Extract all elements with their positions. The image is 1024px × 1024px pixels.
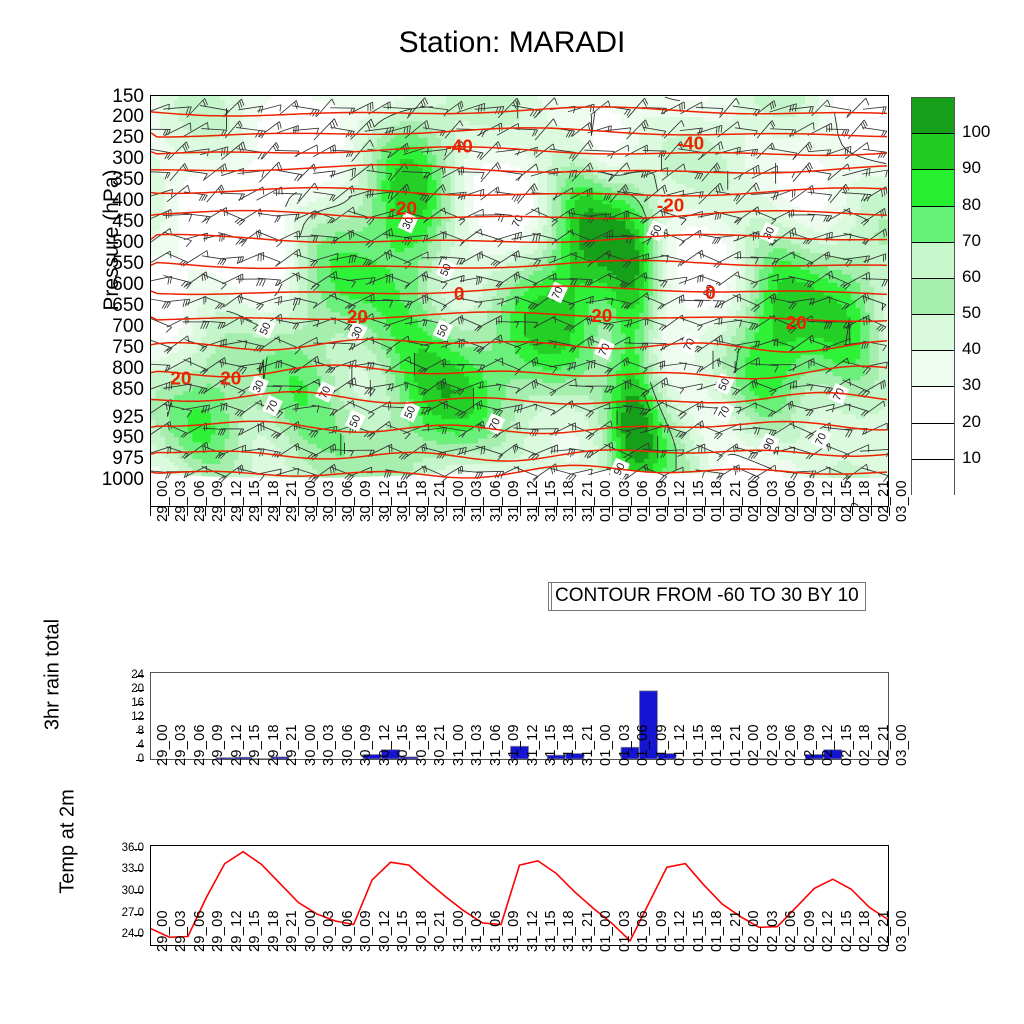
colorbar-segment-2 bbox=[912, 170, 954, 206]
rain-ytick-mark bbox=[136, 676, 144, 677]
time-label-30_18: 30_18 bbox=[414, 480, 430, 522]
ytick-800: 800 bbox=[60, 358, 144, 380]
time-label-29_15: 29_15 bbox=[247, 910, 263, 952]
time-label-01_09: 01_09 bbox=[654, 480, 670, 522]
rain-ytick-mark bbox=[136, 690, 144, 691]
time-label-31_06: 31_06 bbox=[488, 480, 504, 522]
time-label-31_18: 31_18 bbox=[561, 480, 577, 522]
colorbar-label-100: 100 bbox=[962, 122, 990, 142]
contour-line-layer: 3070705050503050507030507070709070707090… bbox=[151, 96, 888, 506]
ytick-925: 925 bbox=[60, 407, 144, 429]
time-label-30_09: 30_09 bbox=[358, 480, 374, 522]
rain-panel-ylabel: 3hr rain total bbox=[42, 595, 65, 755]
time-label-01_21: 01_21 bbox=[728, 910, 744, 952]
time-label-01_21: 01_21 bbox=[728, 724, 744, 766]
time-label-29_06: 29_06 bbox=[192, 910, 208, 952]
temp-ytick-mark bbox=[134, 892, 143, 893]
time-label-30_12: 30_12 bbox=[377, 910, 393, 952]
time-label-02_12: 02_12 bbox=[820, 910, 836, 952]
time-label-01_09: 01_09 bbox=[654, 724, 670, 766]
time-label-29_15: 29_15 bbox=[247, 724, 263, 766]
time-label-01_18: 01_18 bbox=[709, 480, 725, 522]
colorbar-segment-4 bbox=[912, 243, 954, 279]
time-label-03_00: 03_00 bbox=[894, 480, 910, 522]
temp-panel-ylabel: Temp at 2m bbox=[57, 757, 80, 927]
ytick-250: 250 bbox=[60, 127, 144, 149]
time-label-29_00: 29_00 bbox=[155, 724, 171, 766]
time-label-02_06: 02_06 bbox=[783, 724, 799, 766]
time-label-29_03: 29_03 bbox=[173, 910, 189, 952]
time-label-02_06: 02_06 bbox=[783, 480, 799, 522]
time-label-31_12: 31_12 bbox=[525, 724, 541, 766]
colorbar-label-90: 90 bbox=[962, 158, 981, 178]
time-label-29_18: 29_18 bbox=[266, 480, 282, 522]
colorbar-segment-10 bbox=[912, 460, 954, 496]
rain-ytick-12: 12 bbox=[110, 711, 144, 723]
time-label-29_12: 29_12 bbox=[229, 724, 245, 766]
time-label-01_06: 01_06 bbox=[635, 910, 651, 952]
time-label-29_18: 29_18 bbox=[266, 724, 282, 766]
time-label-02_09: 02_09 bbox=[802, 724, 818, 766]
time-label-30_12: 30_12 bbox=[377, 480, 393, 522]
time-label-02_18: 02_18 bbox=[857, 910, 873, 952]
rain-ytick-mark bbox=[136, 718, 144, 719]
time-label-30_09: 30_09 bbox=[358, 910, 374, 952]
rain-ytick-16: 16 bbox=[110, 697, 144, 709]
time-label-01_03: 01_03 bbox=[617, 724, 633, 766]
time-label-30_21: 30_21 bbox=[432, 910, 448, 952]
colorbar-label-20: 20 bbox=[962, 412, 981, 432]
time-label-02_09: 02_09 bbox=[802, 910, 818, 952]
temp-ytick-mark bbox=[134, 914, 143, 915]
time-label-02_03: 02_03 bbox=[765, 480, 781, 522]
time-label-29_06: 29_06 bbox=[192, 480, 208, 522]
ytick-200: 200 bbox=[60, 106, 144, 128]
humidity-colorbar bbox=[911, 97, 955, 495]
colorbar-segment-8 bbox=[912, 387, 954, 423]
time-label-30_00: 30_00 bbox=[303, 480, 319, 522]
time-label-29_15: 29_15 bbox=[247, 480, 263, 522]
time-label-02_21: 02_21 bbox=[876, 480, 892, 522]
xtick-29_00 bbox=[150, 507, 151, 516]
time-label-30_21: 30_21 bbox=[432, 480, 448, 522]
time-label-02_00: 02_00 bbox=[746, 724, 762, 766]
time-label-30_03: 30_03 bbox=[321, 910, 337, 952]
colorbar-label-70: 70 bbox=[962, 231, 981, 251]
ytick-700: 700 bbox=[60, 316, 144, 338]
time-label-29_21: 29_21 bbox=[284, 480, 300, 522]
time-label-31_06: 31_06 bbox=[488, 910, 504, 952]
temp-panel-ytick-labels: 24.027.030.033.036.0 bbox=[92, 838, 144, 953]
time-label-30_12: 30_12 bbox=[377, 724, 393, 766]
time-label-31_15: 31_15 bbox=[543, 910, 559, 952]
time-label-30_03: 30_03 bbox=[321, 724, 337, 766]
time-label-02_03: 02_03 bbox=[765, 910, 781, 952]
time-label-03_00: 03_00 bbox=[894, 724, 910, 766]
colorbar-segment-9 bbox=[912, 424, 954, 460]
time-label-29_09: 29_09 bbox=[210, 910, 226, 952]
time-label-31_18: 31_18 bbox=[561, 724, 577, 766]
rain-ytick-20: 20 bbox=[110, 683, 144, 695]
time-label-01_03: 01_03 bbox=[617, 480, 633, 522]
time-label-31_12: 31_12 bbox=[525, 910, 541, 952]
rain-ytick-mark bbox=[136, 760, 144, 761]
time-label-01_12: 01_12 bbox=[672, 480, 688, 522]
time-label-29_12: 29_12 bbox=[229, 910, 245, 952]
ytick-1000: 1000 bbox=[60, 469, 144, 491]
colorbar-label-60: 60 bbox=[962, 267, 981, 287]
weather-sounding-figure: Station: MARADI Pressure (hPa) 150200250… bbox=[0, 0, 1024, 1024]
ytick-300: 300 bbox=[60, 148, 144, 170]
time-label-29_09: 29_09 bbox=[210, 724, 226, 766]
rain-ytick-mark bbox=[136, 704, 144, 705]
temp-ytick-30.0: 30.0 bbox=[104, 885, 144, 897]
time-label-01_18: 01_18 bbox=[709, 910, 725, 952]
time-label-31_00: 31_00 bbox=[451, 724, 467, 766]
time-label-02_12: 02_12 bbox=[820, 480, 836, 522]
time-label-30_06: 30_06 bbox=[340, 724, 356, 766]
ytick-450: 450 bbox=[60, 211, 144, 233]
time-label-01_12: 01_12 bbox=[672, 724, 688, 766]
ytick-950: 950 bbox=[60, 427, 144, 449]
time-label-01_00: 01_00 bbox=[598, 910, 614, 952]
time-label-30_18: 30_18 bbox=[414, 910, 430, 952]
time-label-30_06: 30_06 bbox=[340, 480, 356, 522]
main-panel-time-labels: 29_0029_0329_0629_0929_1229_1529_1829_21… bbox=[150, 520, 889, 580]
colorbar-segment-7 bbox=[912, 351, 954, 387]
time-label-31_03: 31_03 bbox=[469, 480, 485, 522]
time-label-01_15: 01_15 bbox=[691, 480, 707, 522]
time-label-31_21: 31_21 bbox=[580, 724, 596, 766]
colorbar-tick-labels: 100908070605040302010 bbox=[962, 97, 1022, 495]
temp-ytick-36.0: 36.0 bbox=[104, 842, 144, 854]
main-panel-ytick-labels: 1502002503003504004505005506006507007508… bbox=[60, 95, 144, 507]
time-label-31_09: 31_09 bbox=[506, 480, 522, 522]
contour-note-box: CONTOUR FROM -60 TO 30 BY 10 bbox=[548, 582, 866, 611]
time-label-31_21: 31_21 bbox=[580, 480, 596, 522]
time-label-02_03: 02_03 bbox=[765, 724, 781, 766]
time-label-02_15: 02_15 bbox=[839, 724, 855, 766]
colorbar-segment-0 bbox=[912, 98, 954, 134]
temp-ytick-mark bbox=[134, 935, 143, 936]
time-label-02_15: 02_15 bbox=[839, 910, 855, 952]
ytick-400: 400 bbox=[60, 190, 144, 212]
time-label-29_06: 29_06 bbox=[192, 724, 208, 766]
time-label-02_12: 02_12 bbox=[820, 724, 836, 766]
time-label-29_12: 29_12 bbox=[229, 480, 245, 522]
time-label-29_00: 29_00 bbox=[155, 480, 171, 522]
colorbar-segment-3 bbox=[912, 207, 954, 243]
temp-ytick-mark bbox=[134, 849, 143, 850]
time-label-30_00: 30_00 bbox=[303, 910, 319, 952]
time-label-01_00: 01_00 bbox=[598, 480, 614, 522]
page-title: Station: MARADI bbox=[0, 26, 1024, 60]
time-label-01_15: 01_15 bbox=[691, 910, 707, 952]
time-label-29_21: 29_21 bbox=[284, 724, 300, 766]
time-label-01_12: 01_12 bbox=[672, 910, 688, 952]
time-label-02_18: 02_18 bbox=[857, 480, 873, 522]
time-label-01_09: 01_09 bbox=[654, 910, 670, 952]
time-label-02_18: 02_18 bbox=[857, 724, 873, 766]
time-label-31_03: 31_03 bbox=[469, 724, 485, 766]
time-label-01_15: 01_15 bbox=[691, 724, 707, 766]
temp-panel-time-labels: 29_0029_0329_0629_0929_1229_1529_1829_21… bbox=[150, 950, 889, 1010]
time-label-01_06: 01_06 bbox=[635, 480, 651, 522]
colorbar-segment-6 bbox=[912, 315, 954, 351]
time-label-02_09: 02_09 bbox=[802, 480, 818, 522]
rain-ytick-0: 0 bbox=[110, 753, 144, 765]
time-label-30_06: 30_06 bbox=[340, 910, 356, 952]
ytick-550: 550 bbox=[60, 253, 144, 275]
time-label-31_09: 31_09 bbox=[506, 910, 522, 952]
temp-ytick-33.0: 33.0 bbox=[104, 863, 144, 875]
ytick-850: 850 bbox=[60, 379, 144, 401]
colorbar-label-30: 30 bbox=[962, 375, 981, 395]
rain-ytick-4: 4 bbox=[110, 739, 144, 751]
colorbar-segment-1 bbox=[912, 134, 954, 170]
time-label-01_21: 01_21 bbox=[728, 480, 744, 522]
temp-ytick-mark bbox=[134, 870, 143, 871]
ytick-150: 150 bbox=[60, 86, 144, 108]
time-label-02_00: 02_00 bbox=[746, 910, 762, 952]
time-label-30_21: 30_21 bbox=[432, 724, 448, 766]
rain-panel-ytick-labels: 04812162024 bbox=[100, 665, 144, 765]
time-label-29_03: 29_03 bbox=[173, 480, 189, 522]
rain-ytick-mark bbox=[136, 746, 144, 747]
ytick-750: 750 bbox=[60, 337, 144, 359]
time-label-02_21: 02_21 bbox=[876, 910, 892, 952]
time-label-31_15: 31_15 bbox=[543, 724, 559, 766]
rain-ytick-8: 8 bbox=[110, 725, 144, 737]
time-label-30_15: 30_15 bbox=[395, 480, 411, 522]
time-label-29_09: 29_09 bbox=[210, 480, 226, 522]
time-label-31_21: 31_21 bbox=[580, 910, 596, 952]
ytick-975: 975 bbox=[60, 448, 144, 470]
time-label-02_00: 02_00 bbox=[746, 480, 762, 522]
time-label-31_00: 31_00 bbox=[451, 910, 467, 952]
time-label-31_09: 31_09 bbox=[506, 724, 522, 766]
time-label-02_06: 02_06 bbox=[783, 910, 799, 952]
ytick-600: 600 bbox=[60, 274, 144, 296]
time-label-29_03: 29_03 bbox=[173, 724, 189, 766]
time-label-01_00: 01_00 bbox=[598, 724, 614, 766]
ytick-350: 350 bbox=[60, 169, 144, 191]
time-label-29_00: 29_00 bbox=[155, 910, 171, 952]
time-label-30_18: 30_18 bbox=[414, 724, 430, 766]
colorbar-label-40: 40 bbox=[962, 339, 981, 359]
time-label-30_15: 30_15 bbox=[395, 724, 411, 766]
time-label-02_21: 02_21 bbox=[876, 724, 892, 766]
time-label-03_00: 03_00 bbox=[894, 910, 910, 952]
time-label-31_00: 31_00 bbox=[451, 480, 467, 522]
time-label-31_06: 31_06 bbox=[488, 724, 504, 766]
rain-ytick-mark bbox=[136, 732, 144, 733]
time-label-30_15: 30_15 bbox=[395, 910, 411, 952]
time-label-02_15: 02_15 bbox=[839, 480, 855, 522]
colorbar-segment-5 bbox=[912, 279, 954, 315]
rain-ytick-24: 24 bbox=[110, 669, 144, 681]
time-label-01_03: 01_03 bbox=[617, 910, 633, 952]
time-label-30_03: 30_03 bbox=[321, 480, 337, 522]
time-label-29_18: 29_18 bbox=[266, 910, 282, 952]
time-label-31_18: 31_18 bbox=[561, 910, 577, 952]
time-label-30_09: 30_09 bbox=[358, 724, 374, 766]
ytick-500: 500 bbox=[60, 232, 144, 254]
time-label-31_12: 31_12 bbox=[525, 480, 541, 522]
time-label-01_06: 01_06 bbox=[635, 724, 651, 766]
rain-panel-time-labels: 29_0029_0329_0629_0929_1229_1529_1829_21… bbox=[150, 764, 889, 824]
colorbar-label-50: 50 bbox=[962, 303, 981, 323]
time-label-31_03: 31_03 bbox=[469, 910, 485, 952]
time-label-30_00: 30_00 bbox=[303, 724, 319, 766]
colorbar-label-10: 10 bbox=[962, 448, 981, 468]
humidity-cross-section-plot: 3070705050503050507030507070709070707090… bbox=[150, 95, 889, 507]
colorbar-label-80: 80 bbox=[962, 195, 981, 215]
time-label-29_21: 29_21 bbox=[284, 910, 300, 952]
temp-ytick-24.0: 24.0 bbox=[104, 928, 144, 940]
time-label-01_18: 01_18 bbox=[709, 724, 725, 766]
ytick-650: 650 bbox=[60, 295, 144, 317]
temp-ytick-27.0: 27.0 bbox=[104, 907, 144, 919]
time-label-31_15: 31_15 bbox=[543, 480, 559, 522]
